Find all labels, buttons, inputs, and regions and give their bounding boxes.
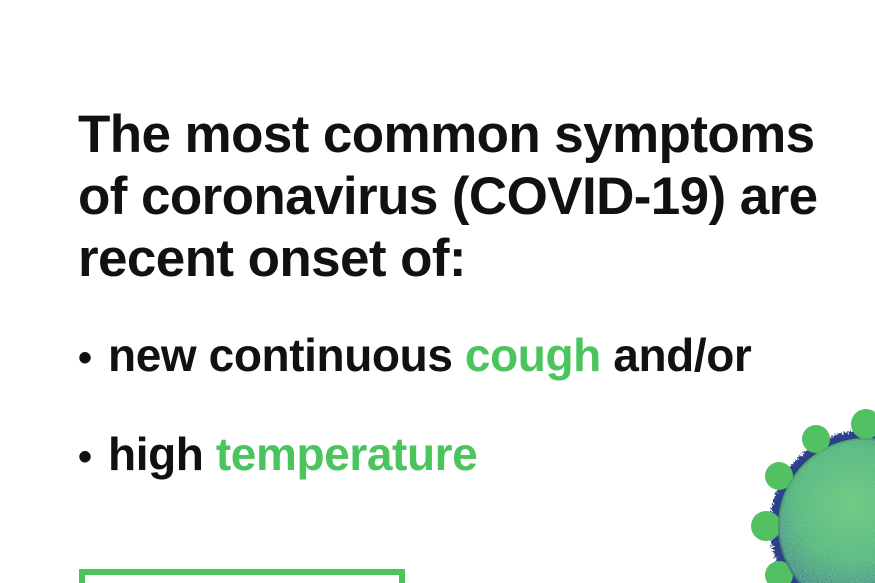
callout-text: Stay at home bbox=[85, 575, 399, 583]
callout-box: Stay at home bbox=[79, 569, 405, 583]
symptom-highlight: temperature bbox=[216, 428, 477, 480]
list-item: • high temperature bbox=[78, 426, 838, 485]
page-title: The most common symptoms of coronavirus … bbox=[78, 104, 818, 290]
symptom-prefix: high bbox=[108, 428, 216, 480]
covid-symptoms-poster: The most common symptoms of coronavirus … bbox=[0, 0, 875, 583]
symptom-text-temperature: high temperature bbox=[108, 426, 838, 482]
symptom-prefix: new continuous bbox=[108, 329, 465, 381]
symptom-text-cough: new continuous cough and/or bbox=[108, 327, 838, 383]
symptom-list: • new continuous cough and/or • high tem… bbox=[78, 327, 838, 485]
list-item: • new continuous cough and/or bbox=[78, 327, 838, 386]
bullet-dot-icon: • bbox=[78, 429, 108, 485]
symptom-suffix: and/or bbox=[601, 329, 752, 381]
symptom-highlight: cough bbox=[465, 329, 601, 381]
bullet-dot-icon: • bbox=[78, 330, 108, 386]
